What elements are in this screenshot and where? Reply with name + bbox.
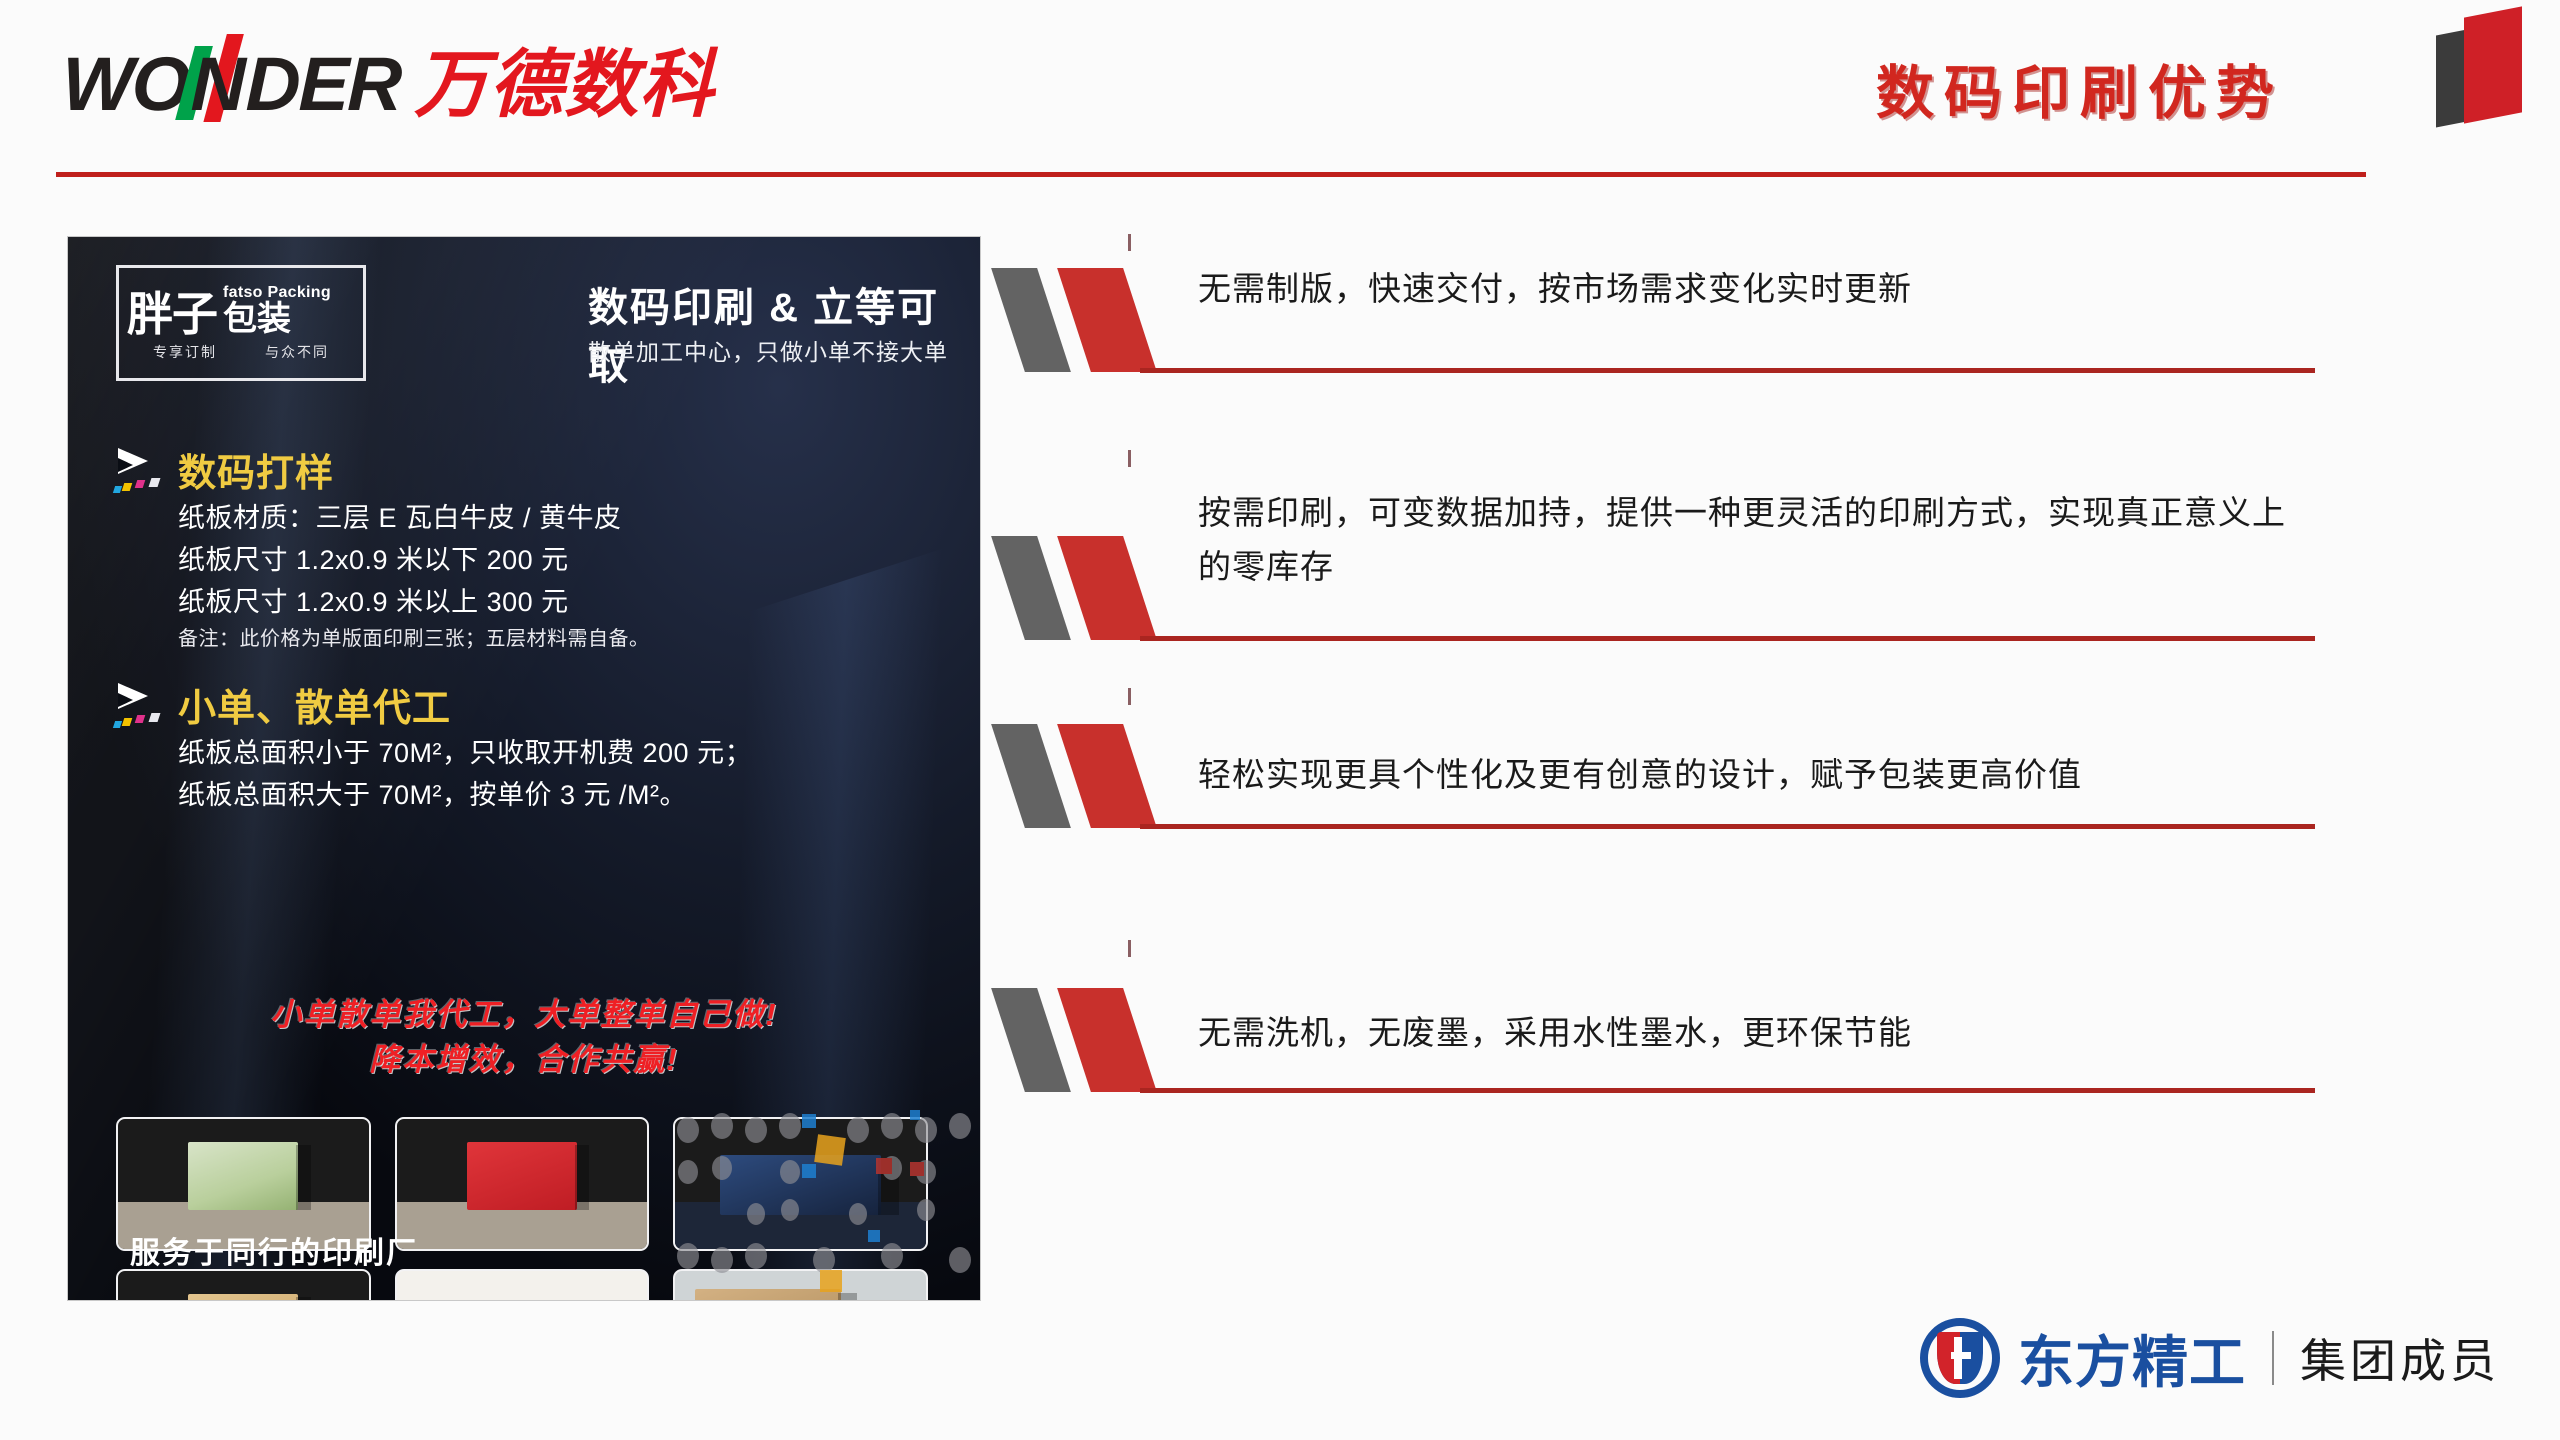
brand-logo-latin: WO N DER	[61, 48, 401, 122]
product-photo	[395, 1117, 650, 1251]
poster-section-1: 数码打样 纸板材质：三层 E 瓦白牛皮 / 黄牛皮 纸板尺寸 1.2x0.9 米…	[112, 442, 650, 655]
emblem-shield	[1937, 1332, 1983, 1384]
poster-logo-subtitle: 专享订制 与众不同	[119, 342, 363, 362]
promo-poster-image: 胖子 fatso Packing 包装 专享订制 与众不同 数码印刷 & 立等可…	[68, 237, 980, 1300]
brand-logo-chinese: 万德数科	[414, 48, 714, 122]
poster-section-2: 小单、散单代工 纸板总面积小于 70M²，只收取开机费 200 元； 纸板总面积…	[112, 677, 752, 816]
poster-footer-text: 服务于同行的印刷厂	[130, 1228, 418, 1272]
advantage-underline	[1140, 636, 2315, 641]
photo-box	[695, 1289, 840, 1300]
poster-logo-sub-right: 与众不同	[265, 342, 329, 362]
group-member-label: 集团成员	[2300, 1325, 2500, 1391]
poster-logo-sub-left: 专享订制	[153, 342, 217, 362]
slide-root: WO N DER 万德数科 数码印刷优势 胖子 fatso Packing 包装	[0, 0, 2560, 1440]
marker-gray-bar	[991, 536, 1071, 640]
cmyk-dot-magenta	[135, 715, 146, 723]
brand-latin-der: DER	[245, 48, 401, 122]
advantage-item-2: 按需印刷，可变数据加持，提供一种更灵活的印刷方式，实现真正意义上的零库存	[1000, 490, 2340, 730]
advantage-underline	[1140, 1088, 2315, 1093]
poster-section-2-line-1: 纸板总面积小于 70M²，只收取开机费 200 元；	[178, 732, 752, 774]
poster-section-2-title: 小单、散单代工	[178, 677, 451, 732]
poster-section-1-title: 数码打样	[178, 442, 334, 497]
poster-logo-row: 胖子 fatso Packing 包装	[119, 284, 363, 336]
poster-section-1-line-3: 纸板尺寸 1.2x0.9 米以上 300 元	[178, 581, 650, 623]
brand-latin-wo: WO	[61, 48, 189, 122]
arrow-bullet-icon	[112, 679, 174, 731]
poster-section-2-header: 小单、散单代工	[112, 677, 752, 732]
advantage-text: 无需洗机，无废墨，采用水性墨水，更环保节能	[1198, 1006, 2318, 1060]
tick-mark-icon	[1128, 234, 1131, 251]
advantage-text: 按需印刷，可变数据加持，提供一种更灵活的印刷方式，实现真正意义上的零库存	[1198, 486, 2318, 594]
marker-gray-bar	[991, 724, 1071, 828]
advantage-underline	[1140, 368, 2315, 373]
marker-red-bar	[1057, 724, 1157, 828]
poster-logo: 胖子 fatso Packing 包装 专享订制 与众不同	[116, 265, 366, 381]
poster-logo-cn-left: 胖子	[127, 292, 217, 336]
brand-logo: WO N DER 万德数科	[62, 48, 714, 128]
header-divider-rule	[56, 172, 2366, 177]
group-member-logo: 东方精工 集团成员	[1920, 1316, 2500, 1400]
advantage-text: 轻松实现更具个性化及更有创意的设计，赋予包装更高价值	[1198, 748, 2318, 802]
cmyk-dot-magenta	[135, 480, 146, 488]
product-photo	[116, 1269, 371, 1300]
photo-box	[188, 1294, 298, 1300]
cmyk-dot-white	[149, 713, 161, 722]
arrow-notch-shape	[118, 458, 133, 472]
marker-gray-bar	[991, 268, 1071, 372]
poster-section-1-line-1: 纸板材质：三层 E 瓦白牛皮 / 黄牛皮	[178, 497, 650, 539]
marker-gray-bar	[991, 988, 1071, 1092]
logo-divider	[2272, 1331, 2274, 1385]
tick-mark-icon	[1128, 450, 1131, 467]
advantage-underline	[1140, 824, 2315, 829]
chevron-marker-icon	[1000, 268, 1180, 374]
emblem-shield-horizontal-bar	[1951, 1352, 1971, 1359]
product-photo	[395, 1269, 650, 1300]
advantage-item-1: 无需制版，快速交付，按市场需求变化实时更新	[1000, 250, 2340, 490]
tick-mark-icon	[1128, 688, 1131, 705]
cmyk-dot-white	[149, 478, 161, 487]
cmyk-dot-yellow	[122, 483, 133, 491]
poster-section-1-line-2: 纸板尺寸 1.2x0.9 米以下 200 元	[178, 539, 650, 581]
advantage-item-3: 轻松实现更具个性化及更有创意的设计，赋予包装更高价值	[1000, 730, 2340, 970]
poster-logo-cn-right: 包装	[223, 302, 331, 336]
corner-red-shape	[2464, 6, 2522, 123]
chevron-marker-icon	[1000, 536, 1180, 642]
cmyk-dot-cyan	[113, 486, 122, 493]
marker-red-bar	[1057, 988, 1157, 1092]
tick-mark-icon	[1128, 940, 1131, 957]
cmyk-dot-yellow	[122, 718, 133, 726]
advantage-item-4: 无需洗机，无废墨，采用水性墨水，更环保节能	[1000, 970, 2340, 1210]
photo-box	[467, 1142, 577, 1210]
page-title: 数码印刷优势	[1876, 46, 2284, 130]
arrow-notch-shape	[118, 693, 133, 707]
poster-section-1-header: 数码打样	[112, 442, 650, 497]
poster-slogan-line-2: 降本增效，合作共赢!	[68, 1037, 980, 1082]
product-photo	[673, 1117, 928, 1251]
poster-slogan: 小单散单我代工，大单整单自己做! 降本增效，合作共赢!	[68, 992, 980, 1082]
chevron-marker-icon	[1000, 724, 1180, 830]
poster-section-1-note: 备注：此价格为单版面印刷三张；五层材料需自备。	[178, 623, 650, 655]
chevron-marker-icon	[1000, 988, 1180, 1094]
poster-slogan-line-1: 小单散单我代工，大单整单自己做!	[68, 992, 980, 1037]
brand-latin-n-accent: N	[188, 48, 246, 122]
corner-decoration-icon	[2432, 0, 2542, 128]
poster-photo-grid	[116, 1117, 928, 1300]
brand-latin-n: N	[190, 42, 244, 127]
shield-emblem-icon	[1920, 1318, 2000, 1398]
arrow-bullet-icon	[112, 444, 174, 496]
marker-red-bar	[1057, 536, 1157, 640]
photo-box	[188, 1142, 298, 1210]
advantage-text: 无需制版，快速交付，按市场需求变化实时更新	[1198, 262, 2318, 316]
photo-floor	[397, 1271, 648, 1300]
advantages-list: 无需制版，快速交付，按市场需求变化实时更新 按需印刷，可变数据加持，提供一种更灵…	[1000, 250, 2340, 1210]
group-company-name: 东方精工	[2018, 1318, 2246, 1399]
poster-subheadline: 散单加工中心，只做小单不接大单	[588, 333, 948, 367]
marker-red-bar	[1057, 268, 1157, 372]
photo-box	[720, 1155, 880, 1215]
poster-section-2-line-2: 纸板总面积大于 70M²，按单价 3 元 /M²。	[178, 774, 752, 816]
cmyk-dot-cyan	[113, 721, 122, 728]
poster-logo-right-stack: fatso Packing 包装	[223, 284, 331, 336]
product-photo	[673, 1269, 928, 1300]
